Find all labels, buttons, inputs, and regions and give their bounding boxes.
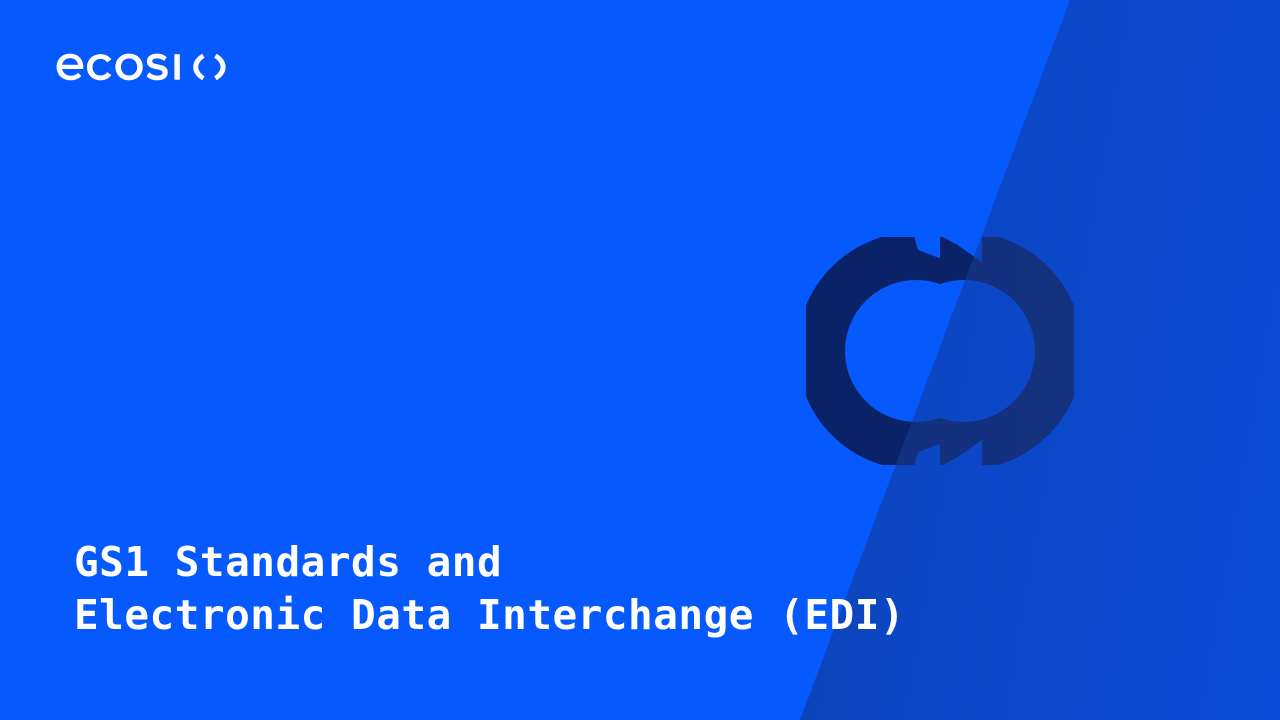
slide-title: GS1 Standards and Electronic Data Interc… [74,536,905,642]
title-slide: GS1 Standards and Electronic Data Interc… [0,0,1280,720]
ecosio-logo[interactable] [52,44,248,88]
title-line-2: Electronic Data Interchange (EDI) [74,589,905,642]
title-line-1: GS1 Standards and [74,536,905,589]
ecosio-logo-svg [52,43,248,89]
